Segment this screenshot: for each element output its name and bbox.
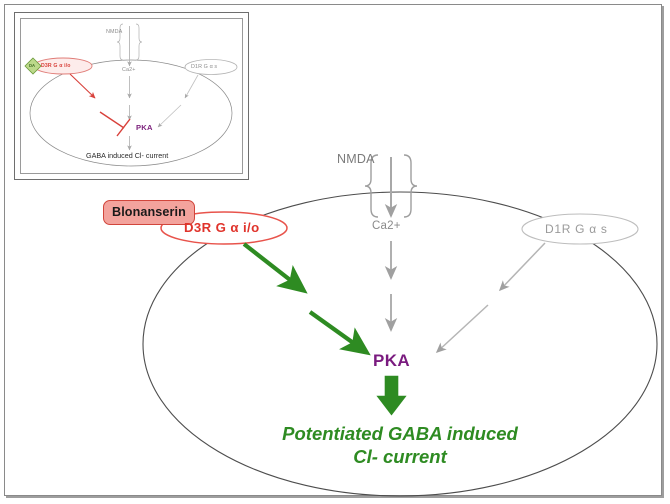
inset-nmda-label: NMDA (106, 30, 122, 35)
inset-receptor-d3r-label: D3R G α i/o (41, 64, 71, 69)
inset-d3r-inhibition-tbar (100, 112, 130, 136)
main-d3r-activation-arrow-1 (244, 244, 303, 290)
inset-d1r-activation-arrow-2 (158, 105, 181, 127)
main-outcome-label: Potentiated GABA induced Cl- current (240, 422, 560, 468)
inset-outcome-label: GABA induced Cl- current (86, 152, 168, 159)
main-receptor-d3r-label: D3R G α i/o (184, 221, 260, 234)
inset-dopamine-label: DA (29, 64, 35, 68)
main-pka-to-outcome-arrow (377, 376, 406, 415)
main-d1r-activation-arrow-2 (437, 305, 488, 352)
main-d1r-activation-arrow-1 (500, 243, 545, 290)
main-receptor-d1r-label: D1R G α s (545, 223, 608, 235)
inset-receptor-d1r-label: D1R G α s (191, 65, 217, 70)
inset-d1r-activation-arrow-1 (185, 75, 198, 98)
main-ca-label: Ca2+ (372, 221, 401, 233)
main-outcome-line-1: Potentiated GABA induced (240, 422, 560, 445)
inset-d3r-inhibition-arrow (70, 74, 95, 98)
main-nmda-label: NMDA (337, 153, 375, 166)
inset-pka-label: PKA (136, 124, 153, 132)
main-d3r-activation-arrow-2 (310, 312, 366, 352)
figure-canvas: DA D3R G α i/o D1R G α s NMDA Ca2+ PKA G… (0, 0, 670, 504)
main-pka-label: PKA (373, 352, 410, 369)
blonanserin-drug-box[interactable]: Blonanserin (103, 200, 195, 225)
inset-ca-label: Ca2+ (122, 68, 135, 73)
main-outcome-line-2: Cl- current (240, 445, 560, 468)
